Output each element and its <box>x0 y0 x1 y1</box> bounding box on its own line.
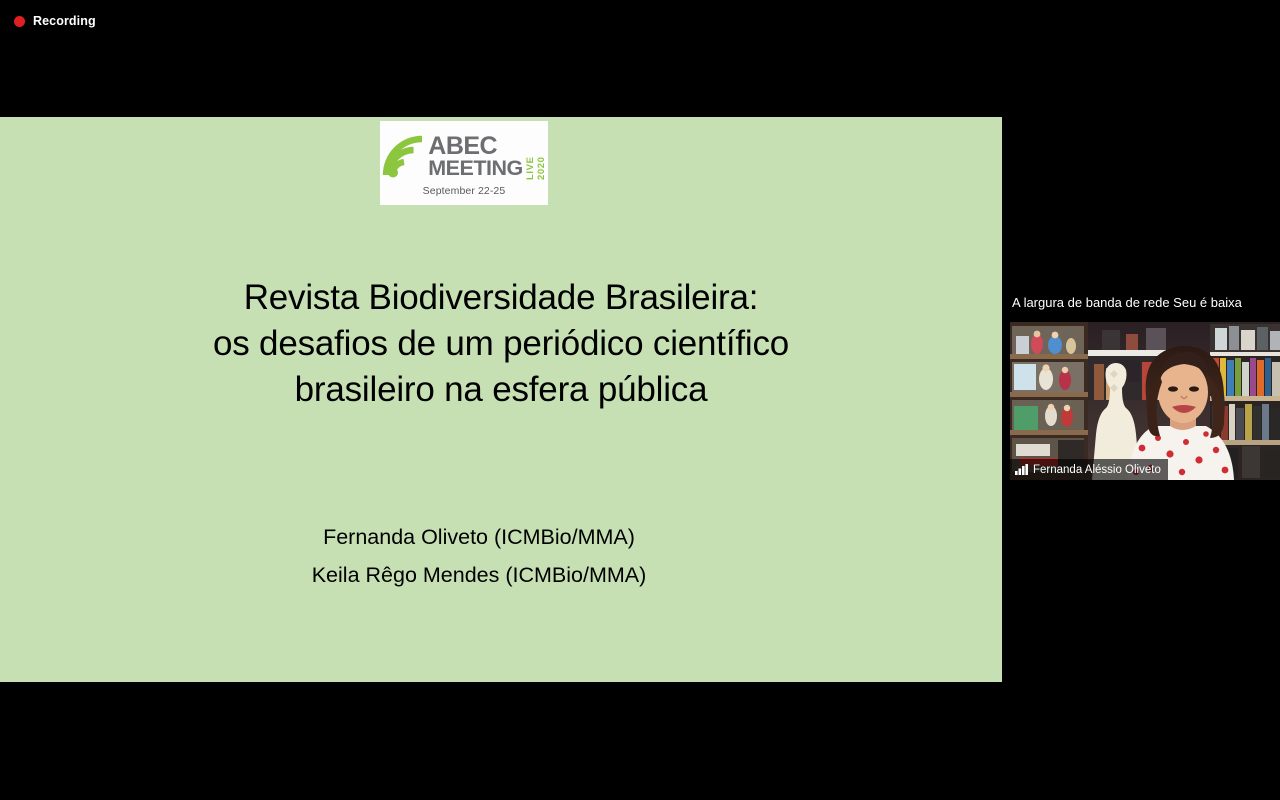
abec-logo-main: ABEC MEETING LIVE 2020 <box>381 132 546 182</box>
participant-name-plate: Fernanda Aléssio Oliveto <box>1010 459 1168 480</box>
bandwidth-warning-message: A largura de banda de rede Seu é baixa <box>1012 295 1280 310</box>
slide-authors: Fernanda Oliveto (ICMBio/MMA) Keila Rêgo… <box>0 519 958 595</box>
recording-indicator: Recording <box>14 12 96 30</box>
abec-logo: ABEC MEETING LIVE 2020 September 22-25 <box>380 121 548 205</box>
abec-logo-wordmark: ABEC MEETING <box>428 135 522 178</box>
participant-video-tile[interactable]: Fernanda Aléssio Oliveto <box>1010 322 1280 480</box>
signal-bars-icon <box>1015 464 1028 475</box>
video-panel: A largura de banda de rede Seu é baixa <box>1002 117 1280 682</box>
abec-logo-word-abec: ABEC <box>428 135 522 158</box>
record-dot-icon <box>14 16 25 27</box>
slide-title: Revista Biodiversidade Brasileira: os de… <box>0 275 1002 413</box>
participant-webcam-feed <box>1010 322 1280 480</box>
recording-label: Recording <box>33 14 96 28</box>
shared-slide: ABEC MEETING LIVE 2020 September 22-25 R… <box>0 117 1002 682</box>
abec-logo-dates: September 22-25 <box>423 185 506 197</box>
participant-name-label: Fernanda Aléssio Oliveto <box>1033 464 1161 476</box>
abec-logo-live-badge: LIVE 2020 <box>525 132 547 180</box>
abec-logo-word-meeting: MEETING <box>428 158 522 178</box>
wifi-arc-icon <box>381 134 427 180</box>
